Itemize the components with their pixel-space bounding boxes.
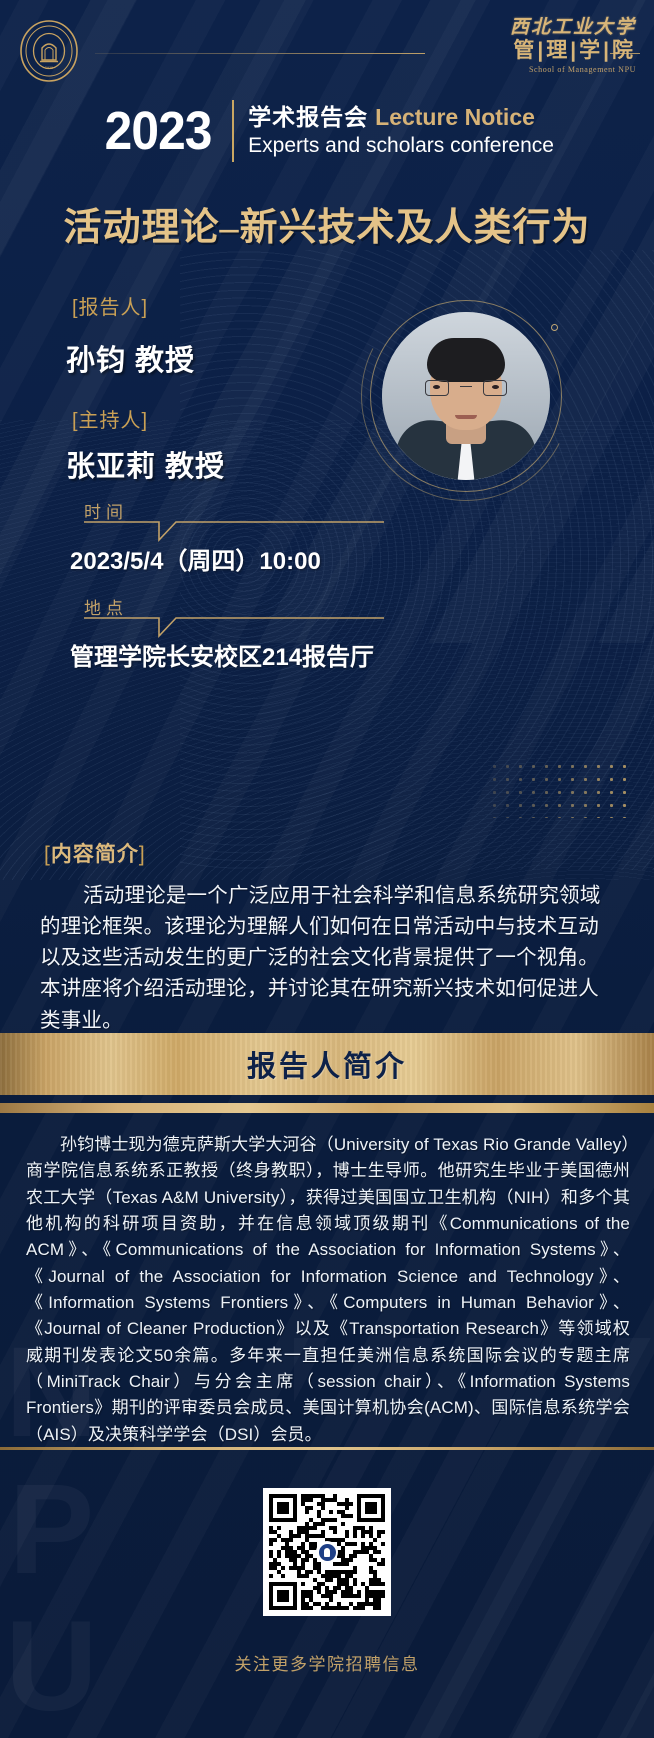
lecture-notice-banner: 2023 学术报告会Lecture Notice Experts and sch…: [0, 100, 654, 162]
qr-code-icon[interactable]: [263, 1488, 391, 1616]
speaker-name: 孙钧 教授: [66, 337, 195, 379]
vertical-divider: [232, 100, 234, 162]
svg-text:1938: 1938: [45, 66, 53, 70]
host-name: 张亚莉 教授: [66, 443, 225, 485]
place-value: 管理学院长安校区214报告厅: [70, 637, 374, 672]
university-crest-icon: 1938: [18, 20, 80, 82]
page-title: 活动理论–新兴技术及人类行为: [0, 196, 654, 251]
year-label: 2023: [105, 104, 212, 158]
bio-banner-title: 报告人简介: [247, 1043, 407, 1085]
school-char-1: 理: [544, 39, 570, 62]
school-name-cn: 管|理|学|院: [510, 39, 636, 63]
bracket-close: ]: [139, 843, 146, 866]
abstract-label-text: 内容简介: [51, 843, 139, 866]
banner-subtitle: Experts and scholars conference: [248, 133, 554, 158]
bio-body: 孙钧博士现为德克萨斯大学大河谷（University of Texas Rio …: [26, 1132, 630, 1448]
time-value: 2023/5/4（周四）10:00: [70, 541, 321, 576]
school-name-en: School of Management NPU: [510, 65, 636, 74]
abstract-section-label: [内容简介]: [44, 838, 146, 868]
speaker-role-label: [报告人]: [72, 291, 148, 320]
bracket-open: [: [44, 843, 51, 866]
avatar: [382, 312, 550, 480]
school-char-0: 管: [511, 39, 537, 62]
portrait-ring-dot: [551, 324, 558, 331]
speaker-portrait: [370, 300, 562, 492]
university-name-cn: 西北工业大学: [510, 18, 636, 38]
qr-center-logo: [316, 1541, 338, 1563]
banner-title-en: Lecture Notice: [375, 104, 535, 130]
school-logo: 西北工业大学 管|理|学|院 School of Management NPU: [510, 18, 636, 74]
qr-caption: 关注更多学院招聘信息: [0, 1650, 654, 1675]
host-role-label: [主持人]: [72, 404, 148, 433]
school-char-3: 院: [610, 39, 636, 62]
bio-banner-accent-strip: [0, 1103, 654, 1113]
bio-bottom-rule: [0, 1447, 654, 1450]
bio-section-banner: 报告人简介: [0, 1033, 654, 1095]
poster-header: 1938 西北工业大学 管|理|学|院 School of Management…: [0, 0, 654, 96]
header-divider-line: [95, 53, 425, 54]
abstract-body: 活动理论是一个广泛应用于社会科学和信息系统研究领域的理论框架。该理论为理解人们如…: [40, 880, 618, 1036]
poster-root: NPU 1938 西北工业大学 管|理|学|院 School of Manage…: [0, 0, 654, 1738]
dot-grid-decoration: [488, 760, 632, 818]
school-char-2: 学: [577, 39, 603, 62]
background-diagonal-stripes: [0, 0, 654, 1738]
banner-title-cn: 学术报告会: [248, 104, 368, 130]
banner-text-block: 学术报告会Lecture Notice Experts and scholars…: [248, 104, 554, 158]
